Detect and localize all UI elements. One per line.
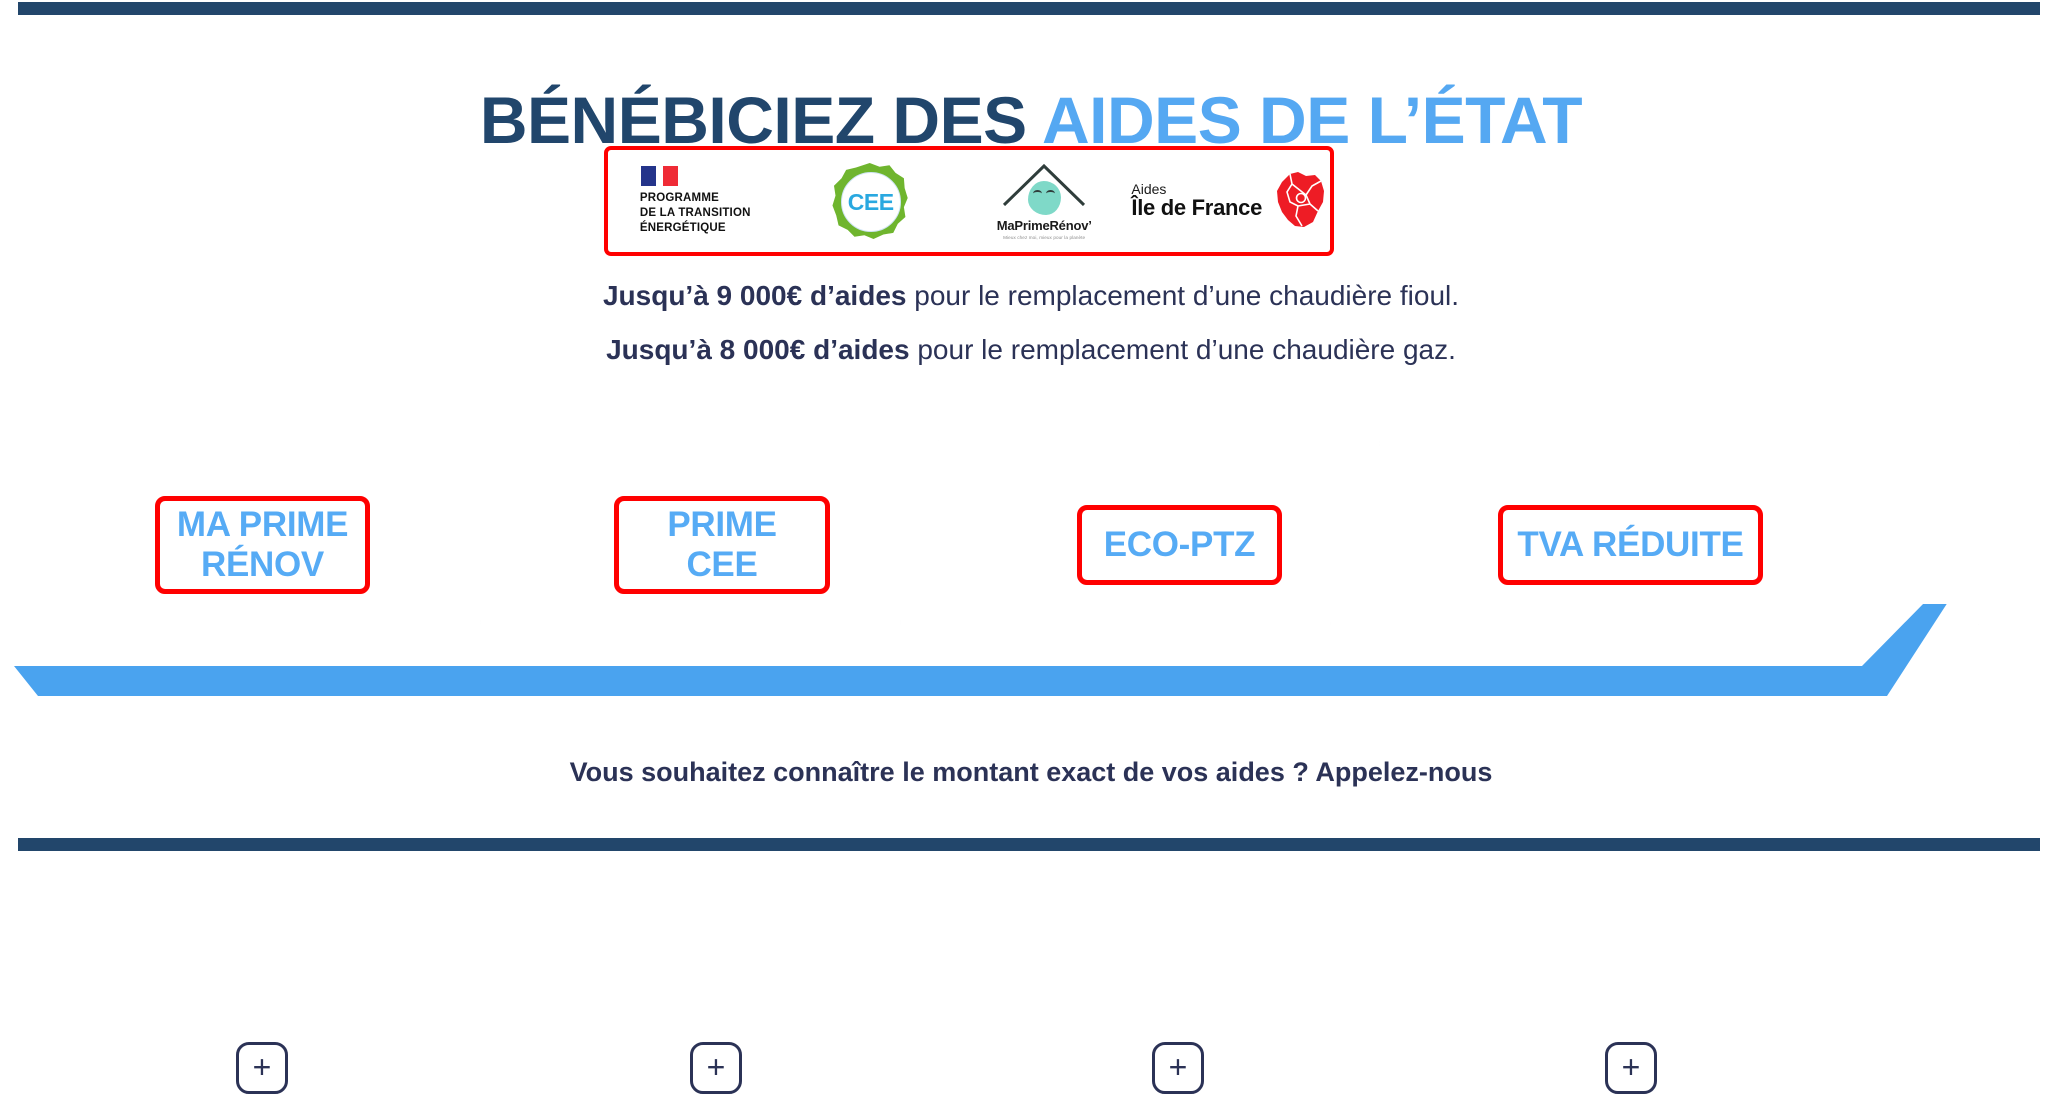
french-flag-icon <box>641 166 678 186</box>
partner-logos-banner: PROGRAMME DE LA TRANSITION ÉNERGÉTIQUE C… <box>604 146 1334 256</box>
logo-programme-transition-energetique: PROGRAMME DE LA TRANSITION ÉNERGÉTIQUE <box>608 150 782 252</box>
maprimerenov-label: MaPrimeRénov’ <box>997 218 1092 233</box>
aid-card-prime-cee[interactable]: PRIME CEE <box>614 496 830 594</box>
aid-card-label: ECO-PTZ <box>1104 525 1256 565</box>
bottom-accent-rule <box>18 838 2040 851</box>
plus-icon: + <box>1622 1051 1641 1083</box>
cee-label: CEE <box>848 191 894 214</box>
aid-card-label: PRIME CEE <box>667 505 776 585</box>
cee-inner-circle: CEE <box>841 172 901 232</box>
aid-amount-rest: pour le remplacement d’une chaudière fio… <box>906 280 1459 311</box>
logo-aides-ile-de-france: Aides Île de France <box>1131 150 1330 252</box>
aid-amount-bold: Jusqu’à 9 000€ d’aides <box>603 280 907 311</box>
aid-amount-line: Jusqu’à 9 000€ d’aides pour le remplacem… <box>0 282 2062 310</box>
aid-amount-bold: Jusqu’à 8 000€ d’aides <box>606 334 910 365</box>
aid-amount-line: Jusqu’à 8 000€ d’aides pour le remplacem… <box>0 336 2062 364</box>
aid-card-eco-ptz[interactable]: ECO-PTZ <box>1077 505 1282 585</box>
smiley-blob-icon <box>1028 181 1061 215</box>
top-accent-rule <box>18 2 2040 15</box>
logo-cee: CEE <box>782 150 956 252</box>
aid-card-tva-reduite[interactable]: TVA RÉDUITE <box>1498 505 1763 585</box>
plus-icon: + <box>707 1051 726 1083</box>
logo-pte-line-3: ÉNERGÉTIQUE <box>640 221 726 236</box>
aid-cards: MA PRIME RÉNOV + PRIME CEE + ECO-PTZ + T… <box>0 440 2062 660</box>
ile-de-france-map-icon <box>1268 170 1330 232</box>
aid-toggle-eco-ptz[interactable]: + <box>1152 1042 1204 1094</box>
logo-maprimerenov: MaPrimeRénov’ Mieux chez moi, mieux pour… <box>957 150 1131 252</box>
plus-icon: + <box>1169 1051 1188 1083</box>
plus-icon: + <box>253 1051 272 1083</box>
aid-card-ma-prime-renov[interactable]: MA PRIME RÉNOV <box>155 496 370 594</box>
idf-label-big: Île de France <box>1131 196 1262 220</box>
aid-toggle-prime-cee[interactable]: + <box>690 1042 742 1094</box>
aids-timeline: MA PRIME RÉNOV + PRIME CEE + ECO-PTZ + T… <box>0 440 2062 660</box>
contact-cta-text: Vous souhaitez connaître le montant exac… <box>0 757 2062 788</box>
idf-label-small: Aides <box>1131 182 1262 197</box>
aid-toggle-ma-prime-renov[interactable]: + <box>236 1042 288 1094</box>
aid-amount-lines: Jusqu’à 9 000€ d’aides pour le remplacem… <box>0 282 2062 390</box>
logo-pte-line-2: DE LA TRANSITION <box>640 206 751 221</box>
maprimerenov-mark-icon <box>1001 162 1087 214</box>
aid-toggle-tva-reduite[interactable]: + <box>1605 1042 1657 1094</box>
aid-amount-rest: pour le remplacement d’une chaudière gaz… <box>910 334 1456 365</box>
maprimerenov-tagline: Mieux chez moi, mieux pour la planète <box>1003 235 1085 240</box>
aid-card-label: TVA RÉDUITE <box>1517 525 1743 565</box>
aid-card-label: MA PRIME RÉNOV <box>177 505 348 585</box>
logo-pte-line-1: PROGRAMME <box>640 191 719 206</box>
